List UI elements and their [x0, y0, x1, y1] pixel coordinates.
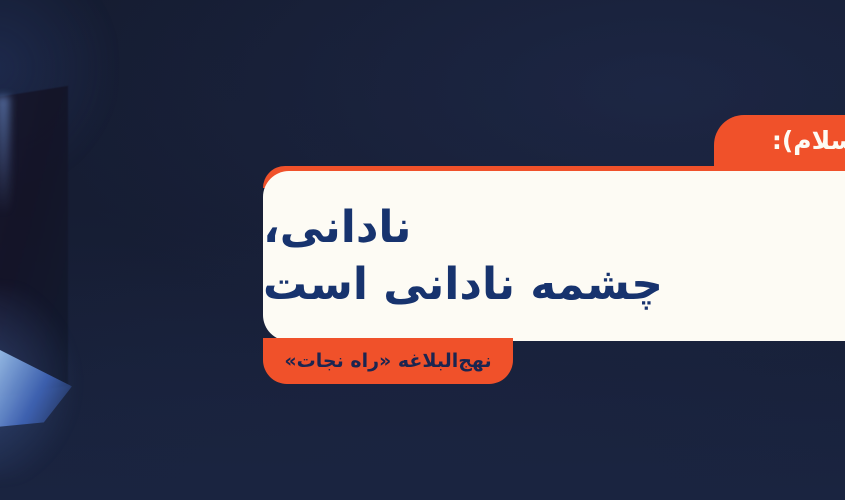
quote-text-block: نادانی، چشمه نادانی است [263, 171, 845, 341]
attribution-banner: السلام): [714, 115, 845, 166]
quote-card: نادانی، چشمه نادانی است [263, 171, 845, 341]
source-banner: نهج‌البلاغه «راه نجات» [263, 338, 513, 384]
attribution-text: السلام): [772, 128, 845, 153]
quote-line-2: چشمه نادانی است [263, 256, 663, 313]
background-slab-edge-glow [0, 96, 10, 214]
source-text: نهج‌البلاغه «راه نجات» [284, 352, 491, 371]
quote-card-stage: السلام): نادانی، چشمه نادانی است نهج‌الب… [0, 0, 845, 500]
quote-line-1: نادانی، [263, 199, 411, 256]
